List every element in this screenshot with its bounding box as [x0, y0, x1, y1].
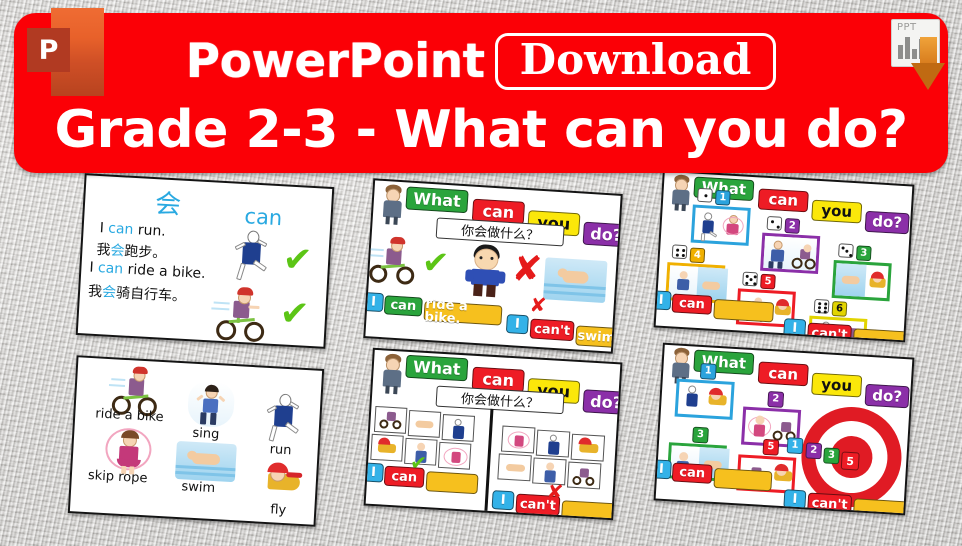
number-tag-3[interactable]: 3 [692, 427, 709, 444]
answer1-chip-i[interactable]: I [363, 292, 384, 312]
right-answer-blank[interactable] [561, 500, 616, 520]
slide-thumbnail-can-cant-sorting[interactable]: What can you do? 你会做什么？ [364, 348, 623, 521]
skiprope-mini [722, 213, 746, 242]
fly-mini [867, 273, 890, 296]
line4-pre: 我 [88, 284, 103, 301]
teacher-clipart [378, 353, 406, 394]
download-arrow-head [911, 63, 945, 90]
powerpoint-logo-icon: P [27, 8, 104, 96]
picture-frame-1[interactable] [675, 379, 735, 420]
header-chip-do[interactable]: do? [582, 389, 622, 415]
teacher-clipart [669, 174, 695, 211]
right-card-2[interactable] [536, 430, 570, 458]
swim-clipart [175, 441, 237, 482]
vocab-label-run: run [269, 442, 292, 458]
slide-thumbnail-target-game[interactable]: What can you do? 1 2 3 [654, 343, 915, 516]
target-tile-3[interactable]: 3 [823, 447, 840, 464]
ppt-chart-bar [898, 45, 903, 59]
left-card-4[interactable] [370, 434, 403, 462]
runner-mini [698, 212, 718, 241]
left-card-1[interactable] [374, 406, 407, 434]
die-4 [672, 244, 688, 259]
answer-chip-can[interactable]: can [672, 462, 713, 483]
fly-mini [706, 389, 731, 414]
sing-clipart [187, 381, 235, 428]
ppt-chart-bar [912, 49, 917, 59]
check-mark-bike: ✔ [279, 296, 310, 333]
runner-clipart [229, 229, 272, 281]
check-mark-positive: ✔ [421, 246, 450, 280]
fly-clipart [261, 463, 307, 503]
answer-chip-blank2[interactable] [853, 498, 910, 515]
sing-mini [767, 240, 789, 269]
sentence-line-4: 我会骑自行车。 [88, 281, 187, 306]
line4-post: 骑自行车。 [116, 285, 187, 305]
vocab-label-sing: sing [192, 426, 220, 442]
line3-kw: can [98, 260, 124, 277]
vocab-label-fly: fly [270, 502, 287, 518]
right-answer-chip-i[interactable]: I [492, 490, 515, 510]
left-card-2[interactable] [408, 410, 441, 438]
banner-subtitle: Grade 2-3 - What can you do? [14, 95, 948, 165]
vocab-label-ride-a-bike: ride a bike [95, 406, 164, 425]
header-chip-you[interactable]: you [811, 200, 862, 224]
number-tag-4[interactable]: 4 [689, 247, 705, 263]
vocab-label-swim: swim [181, 479, 215, 496]
header-chip-what[interactable]: What [405, 355, 468, 382]
skip-rope-clipart [104, 425, 155, 476]
line2-post: 跑步。 [124, 243, 167, 261]
picture-frame-2[interactable] [760, 233, 820, 274]
boy-clipart [464, 243, 507, 297]
promo-banner: PowerPoint Download Grade 2-3 - What can… [14, 13, 948, 173]
left-card-3[interactable] [442, 414, 475, 442]
banner-title-row: PowerPoint Download [14, 27, 948, 95]
right-cross-mark: ✘ [546, 481, 564, 502]
small-cross-mark: ✘ [529, 294, 547, 315]
answer2-chip-i[interactable]: I [506, 314, 529, 334]
sentence-line-2: 我会跑步。 [96, 239, 167, 263]
header-chip-what[interactable]: What [405, 186, 468, 213]
target-tile-2[interactable]: 2 [805, 442, 822, 459]
answer1-chip-verb[interactable]: ride a bike. [423, 301, 502, 326]
answer-chip-i2[interactable]: I [783, 489, 806, 509]
right-card-1[interactable] [501, 426, 535, 454]
number-tag-2[interactable]: 2 [784, 218, 800, 234]
target-tile-5[interactable]: 5 [841, 451, 860, 470]
download-label: Download [520, 39, 752, 81]
cyclist-clipart [369, 236, 426, 287]
number-tag-5[interactable]: 5 [762, 439, 779, 456]
answer-chip-i[interactable]: I [654, 290, 672, 310]
ppt-download-icon[interactable]: PPT [891, 19, 949, 93]
product-title: PowerPoint [186, 38, 485, 85]
answer-chip-blank1[interactable] [713, 468, 772, 491]
number-tag-1[interactable]: 1 [715, 190, 731, 206]
header-chip-do[interactable]: do? [865, 384, 910, 409]
header-chip-do[interactable]: do? [583, 222, 623, 248]
line1-kw: can [108, 221, 134, 238]
die-1 [697, 188, 713, 203]
die-5 [742, 272, 758, 287]
cycle-mini [791, 243, 818, 270]
picture-frame-3[interactable] [832, 260, 892, 301]
picture-frame-1[interactable] [691, 205, 751, 246]
number-tag-6[interactable]: 6 [832, 301, 848, 317]
cross-mark-negative: ✘ [511, 251, 543, 289]
sentence-line-1: I can run. [99, 220, 166, 240]
target-tile-1[interactable]: 1 [787, 437, 804, 454]
left-check-mark: ✔ [410, 452, 428, 473]
english-can: can [244, 204, 283, 230]
number-tag-5[interactable]: 5 [760, 274, 776, 290]
left-card-6[interactable] [438, 442, 471, 470]
header-chip-do[interactable]: do? [865, 211, 910, 235]
swimmer-clipart [543, 257, 608, 303]
line4-kw: 会 [102, 284, 117, 301]
number-tag-2[interactable]: 2 [767, 391, 784, 408]
answer-chip-i[interactable]: I [654, 459, 672, 479]
die-6 [814, 299, 830, 314]
answer1-chip-can[interactable]: can [384, 295, 423, 316]
skiprope-mini [747, 413, 773, 442]
answer-chip-blank1[interactable] [713, 299, 774, 323]
right-card-4[interactable] [497, 453, 531, 481]
answer-chip-i2[interactable]: I [783, 318, 806, 338]
answer-chip-can[interactable]: can [671, 293, 712, 314]
line1-post: run. [133, 222, 166, 240]
run-clipart [262, 393, 305, 443]
powerpoint-logo-letter: P [27, 28, 70, 72]
hanzi-can: 会 [154, 183, 182, 221]
right-card-6[interactable] [567, 462, 601, 490]
slide-thumbnail-vocabulary[interactable]: ride a bike sing run skip rope [68, 355, 324, 527]
fly-mini [771, 465, 796, 490]
header-chip-can[interactable]: can [758, 361, 809, 386]
line2-kw: 会 [110, 243, 125, 260]
download-button[interactable]: Download [495, 33, 777, 90]
ppt-chart-bar [905, 37, 910, 59]
check-mark-run: ✔ [282, 242, 313, 279]
header-chip-can[interactable]: can [758, 188, 809, 212]
sentence-line-3: I can ride a bike. [89, 260, 206, 282]
number-tag-3[interactable]: 3 [856, 245, 872, 261]
die-3 [838, 243, 854, 258]
cyclist-clipart [214, 286, 275, 345]
number-tag-1[interactable]: 1 [700, 363, 717, 380]
line3-post: ride a bike. [123, 261, 206, 282]
slide-thumbnail-what-can-you-do-answers[interactable]: What can you do? 你会做什么？ ✔ ✘ I can ride a [363, 178, 623, 353]
ppt-label: PPT [897, 22, 917, 33]
right-card-3[interactable] [571, 434, 605, 462]
vocab-label-skip-rope: skip rope [87, 468, 147, 486]
answer2-chip-cant[interactable]: can't [530, 318, 575, 341]
runner-mini [682, 385, 702, 414]
die-2 [767, 216, 783, 231]
left-answer-chip-i[interactable]: I [364, 462, 385, 482]
header-chip-you[interactable]: you [811, 373, 862, 398]
slide-thumbnail-can-sentences[interactable]: 会 can I can run. 我会跑步。 I can ride a bike… [76, 173, 335, 349]
line2-pre: 我 [96, 242, 111, 259]
teacher-clipart [378, 184, 406, 226]
slide-thumbnail-dice-game[interactable]: What can you do? 1 2 [654, 170, 915, 343]
left-answer-blank[interactable] [425, 471, 478, 494]
